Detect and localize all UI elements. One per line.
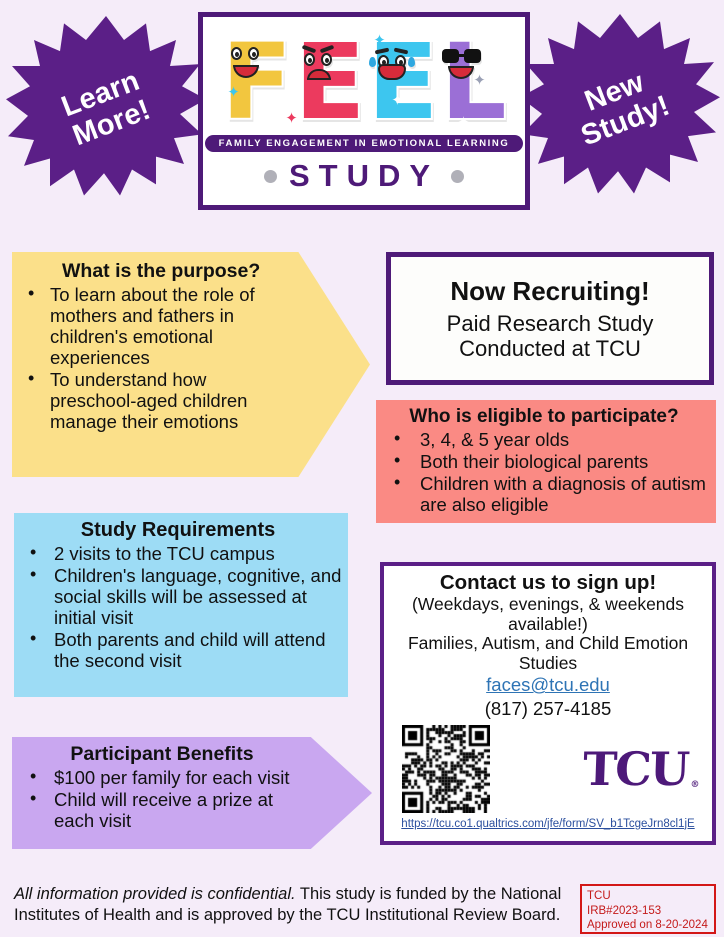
- benefits-heading: Participant Benefits: [12, 743, 372, 766]
- purpose-heading: What is the purpose?: [14, 260, 364, 283]
- angry-face-icon: [302, 47, 348, 81]
- list-item: To learn about the role of mothers and f…: [14, 284, 364, 368]
- crying-face-icon: [375, 47, 421, 81]
- new-study-badge-label: New Study!: [566, 61, 674, 151]
- list-item: Both parents and child will attend the s…: [14, 629, 342, 671]
- confidentiality-footer: All information provided is confidential…: [14, 884, 562, 927]
- participant-benefits-section: Participant Benefits $100 per family for…: [12, 737, 372, 849]
- list-item: 3, 4, & 5 year olds: [376, 429, 712, 450]
- feel-study-logo-card: F E E: [198, 12, 530, 210]
- sparkle-icon: ✦: [391, 93, 404, 108]
- list-item: $100 per family for each visit: [12, 767, 372, 788]
- learn-more-badge-label: Learn More!: [57, 65, 154, 151]
- learn-more-badge[interactable]: Learn More!: [6, 16, 206, 201]
- eligibility-list: 3, 4, & 5 year olds Both their biologica…: [376, 429, 712, 515]
- signup-url-link[interactable]: https://tcu.co1.qualtrics.com/jfe/form/S…: [392, 818, 704, 830]
- irb-approval-date: Approved on 8-20-2024: [587, 918, 709, 933]
- requirements-list: 2 visits to the TCU campus Children's la…: [14, 543, 342, 671]
- logo-study-word: STUDY: [289, 158, 439, 194]
- purpose-list: To learn about the role of mothers and f…: [14, 284, 364, 433]
- qr-code-icon[interactable]: [402, 725, 490, 813]
- contact-lab-name: Families, Autism, and Child Emotion Stud…: [392, 634, 704, 673]
- irb-institution: TCU: [587, 889, 709, 904]
- list-item: Children with a diagnosis of autism are …: [376, 473, 712, 515]
- bullet-dot-icon: [451, 170, 464, 183]
- recruiting-title: Now Recruiting!: [450, 276, 649, 307]
- new-study-badge[interactable]: New Study!: [520, 14, 720, 199]
- sparkle-icon: ✦: [373, 33, 386, 48]
- contact-phone: (817) 257-4185: [392, 697, 704, 720]
- happy-face-icon: [229, 47, 275, 81]
- recruiting-line-1: Paid Research Study: [447, 311, 654, 336]
- eligibility-section: Who is eligible to participate? 3, 4, & …: [376, 400, 716, 523]
- tcu-logo-text: TCU: [582, 742, 689, 796]
- sparkle-icon: ✦: [473, 73, 486, 88]
- tcu-logo: TCU®: [582, 742, 699, 796]
- logo-letter-e2: E: [367, 35, 438, 131]
- list-item: Children's language, cognitive, and soci…: [14, 565, 342, 628]
- sparkle-icon: ✦: [457, 115, 470, 130]
- contact-title: Contact us to sign up!: [392, 571, 704, 595]
- bullet-dot-icon: [264, 170, 277, 183]
- logo-letter-e1: E: [294, 35, 365, 131]
- footer-italic-part: All information provided is confidential…: [14, 885, 296, 903]
- now-recruiting-section: Now Recruiting! Paid Research Study Cond…: [386, 252, 714, 385]
- list-item: Both their biological parents: [376, 451, 712, 472]
- study-requirements-section: Study Requirements 2 visits to the TCU c…: [14, 513, 348, 697]
- irb-number: IRB#2023-153: [587, 904, 709, 919]
- tcu-logo-registered-mark: ®: [690, 780, 697, 790]
- logo-letter-e1-glyph: E: [294, 21, 365, 143]
- logo-letter-f-glyph: F: [221, 21, 292, 143]
- contact-media-row: TCU®: [392, 720, 704, 816]
- list-item: Child will receive a prize at each visit: [12, 789, 372, 831]
- contact-email-link[interactable]: faces@tcu.edu: [392, 674, 704, 696]
- irb-approval-box: TCU IRB#2023-153 Approved on 8-20-2024: [580, 884, 716, 934]
- list-item: To understand how preschool-aged childre…: [14, 369, 364, 432]
- eligibility-heading: Who is eligible to participate?: [376, 406, 712, 428]
- contact-section: Contact us to sign up! (Weekdays, evenin…: [380, 562, 716, 845]
- requirements-heading: Study Requirements: [14, 519, 342, 542]
- logo-study-row: STUDY: [264, 158, 464, 194]
- sparkle-icon: ✦: [285, 111, 298, 126]
- benefits-list: $100 per family for each visit Child wil…: [12, 767, 372, 831]
- list-item: 2 visits to the TCU campus: [14, 543, 342, 564]
- feel-letters: F E E: [221, 27, 506, 131]
- purpose-section: What is the purpose? To learn about the …: [12, 252, 370, 477]
- sparkle-icon: ✦: [227, 85, 240, 100]
- contact-availability: (Weekdays, evenings, & weekends availabl…: [392, 595, 704, 634]
- recruiting-line-2: Conducted at TCU: [459, 336, 641, 361]
